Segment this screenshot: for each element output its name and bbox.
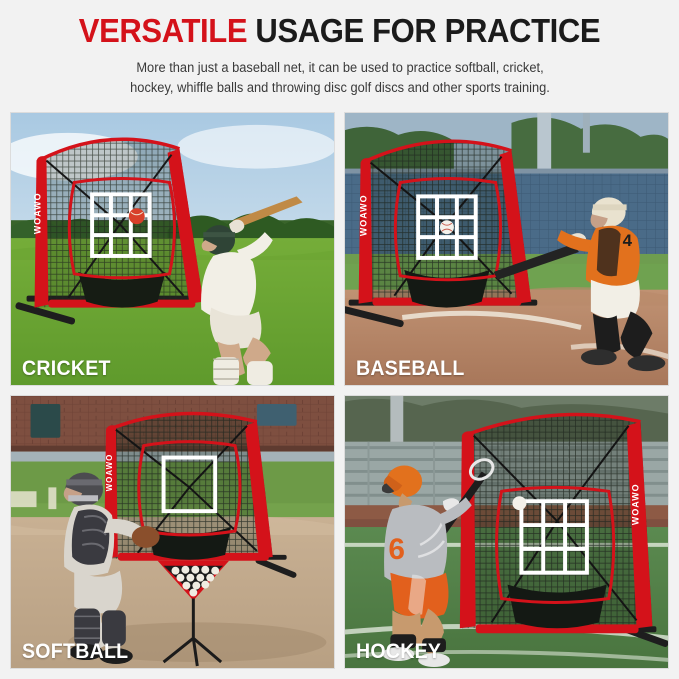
hockey-scene: WOAWO 6 [345,396,668,668]
page-title: VERSATILE USAGE FOR PRACTICE [32,14,648,49]
panel-cricket[interactable]: WOAWO CR [10,112,335,386]
panel-grid: WOAWO CR [10,112,669,669]
jersey-number-baseball: 4 [623,231,633,250]
subtitle-line-2: hockey, whiffle balls and throwing disc … [71,78,609,98]
panel-hockey[interactable]: WOAWO 6 [344,395,669,669]
practice-net-hockey: WOAWO [460,414,668,647]
title-rest: USAGE FOR PRACTICE [255,12,600,49]
panel-softball[interactable]: WOAWO [10,395,335,669]
title-highlight: VERSATILE [79,12,247,49]
softball-scene: WOAWO [11,396,334,668]
hockey-ball [512,496,526,510]
catchers-mitt [132,526,160,548]
cricket-scene: WOAWO [11,113,334,385]
header: VERSATILE USAGE FOR PRACTICE More than j… [0,0,679,105]
subtitle-line-1: More than just a baseball net, it can be… [71,58,609,78]
product-feature-image: VERSATILE USAGE FOR PRACTICE More than j… [0,0,679,679]
brand-logo-hockey: WOAWO [631,483,641,525]
practice-net-baseball: WOAWO [345,141,537,328]
brand-logo-cricket: WOAWO [32,192,42,234]
cricket-ball [129,208,145,224]
brand-logo-softball: WOAWO [105,454,114,492]
page-subtitle: More than just a baseball net, it can be… [71,58,609,99]
baseball-ball [440,220,454,234]
baseball-scene: WOAWO 4 [345,113,668,385]
brand-logo-baseball: WOAWO [359,194,369,236]
jersey-number-hockey: 6 [388,533,405,566]
panel-baseball[interactable]: WOAWO 4 [344,112,669,386]
